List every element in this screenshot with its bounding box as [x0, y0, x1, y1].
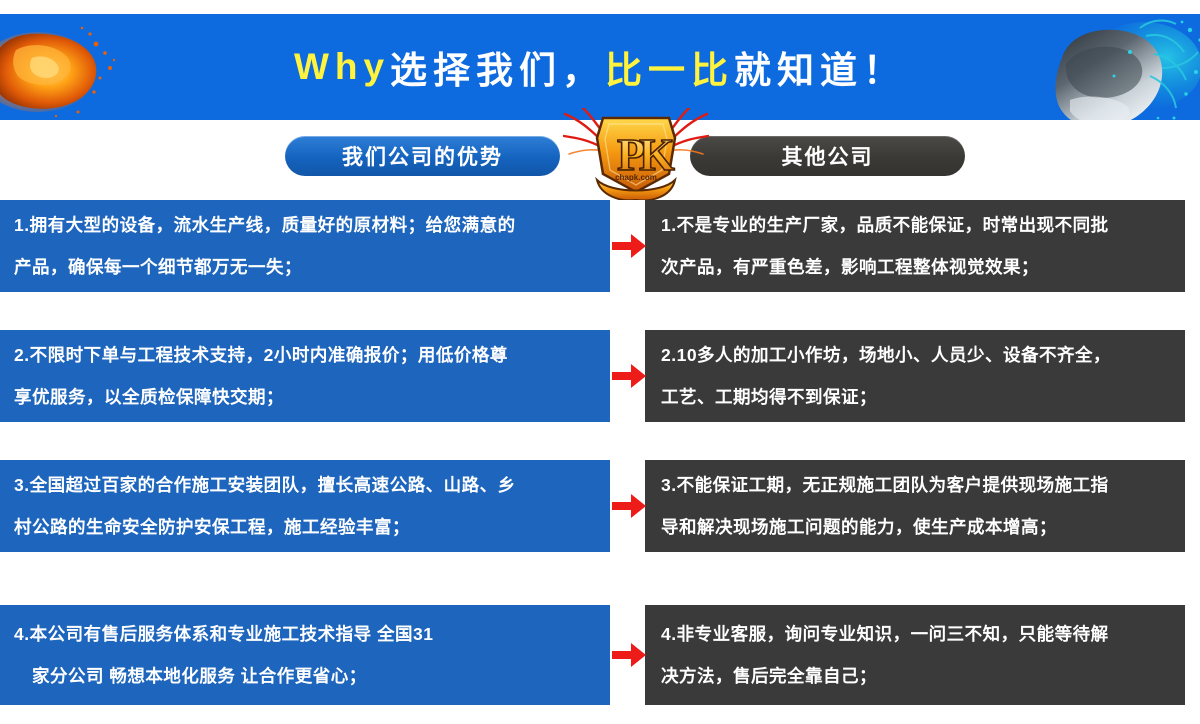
other-company-line-2: 工艺、工期均得不到保证； — [661, 376, 1171, 418]
pk-badge-icon: P K chapk.com — [563, 108, 709, 200]
comparison-row: 3.全国超过百家的合作施工安装团队，擅长高速公路、山路、乡 村公路的生命安全防护… — [0, 460, 1200, 552]
right-arrow-icon — [612, 363, 646, 389]
our-advantage-line-2: 村公路的生命安全防护安保工程，施工经验丰富； — [14, 506, 596, 548]
other-company-panel: 1.不是专业的生产厂家，品质不能保证，时常出现不同批 次产品，有严重色差，影响工… — [645, 200, 1185, 292]
our-advantage-panel: 2.不限时下单与工程技术支持，2小时内准确报价；用低价格尊 享优服务，以全质检保… — [0, 330, 610, 422]
header-banner: Why选择我们，比一比就知道！ — [0, 14, 1200, 120]
right-arrow-icon — [612, 233, 646, 259]
other-company-line-1: 1.不是专业的生产厂家，品质不能保证，时常出现不同批 — [661, 204, 1171, 246]
svg-text:chapk.com: chapk.com — [615, 173, 657, 182]
our-advantage-line-2: 产品，确保每一个细节都万无一失； — [14, 246, 596, 288]
comparison-row: 2.不限时下单与工程技术支持，2小时内准确报价；用低价格尊 享优服务，以全质检保… — [0, 330, 1200, 422]
our-advantage-line-1: 3.全国超过百家的合作施工安装团队，擅长高速公路、山路、乡 — [14, 464, 596, 506]
our-advantage-line-1: 1.拥有大型的设备，流水生产线，质量好的原材料；给您满意的 — [14, 204, 596, 246]
banner-title-know: 就知道！ — [734, 40, 906, 94]
our-advantage-line-1: 4.本公司有售后服务体系和专业施工技术指导 全国31 — [14, 613, 596, 655]
other-company-panel: 4.非专业客服，询问专业知识，一问三不知，只能等待解 决方法，售后完全靠自己； — [645, 605, 1185, 705]
tab-other-companies[interactable]: 其他公司 — [690, 136, 965, 176]
right-arrow-icon — [612, 642, 646, 668]
banner-title: Why选择我们，比一比就知道！ — [0, 14, 1200, 120]
our-advantage-panel: 4.本公司有售后服务体系和专业施工技术指导 全国31 家分公司 畅想本地化服务 … — [0, 605, 610, 705]
comparison-rows: 1.拥有大型的设备，流水生产线，质量好的原材料；给您满意的 产品，确保每一个细节… — [0, 198, 1200, 718]
other-company-line-2: 决方法，售后完全靠自己； — [661, 655, 1171, 697]
column-header-row: 我们公司的优势 — [0, 126, 1200, 198]
other-company-line-1: 2.10多人的加工小作坊，场地小、人员少、设备不齐全， — [661, 334, 1171, 376]
other-company-line-1: 4.非专业客服，询问专业知识，一问三不知，只能等待解 — [661, 613, 1171, 655]
banner-title-why: Why — [294, 46, 390, 88]
comparison-row: 4.本公司有售后服务体系和专业施工技术指导 全国31 家分公司 畅想本地化服务 … — [0, 605, 1200, 705]
other-company-line-2: 导和解决现场施工问题的能力，使生产成本增高； — [661, 506, 1171, 548]
our-advantage-line-2: 享优服务，以全质检保障快交期； — [14, 376, 596, 418]
other-company-line-1: 3.不能保证工期，无正规施工团队为客户提供现场施工指 — [661, 464, 1171, 506]
other-company-panel: 2.10多人的加工小作坊，场地小、人员少、设备不齐全， 工艺、工期均得不到保证； — [645, 330, 1185, 422]
tab-our-advantages-label: 我们公司的优势 — [342, 141, 503, 171]
our-advantage-line-2: 家分公司 畅想本地化服务 让合作更省心； — [14, 655, 596, 697]
tab-other-companies-label: 其他公司 — [782, 141, 874, 171]
right-arrow-icon — [612, 493, 646, 519]
banner-title-compare: 比一比 — [605, 40, 734, 94]
other-company-panel: 3.不能保证工期，无正规施工团队为客户提供现场施工指 导和解决现场施工问题的能力… — [645, 460, 1185, 552]
our-advantage-panel: 1.拥有大型的设备，流水生产线，质量好的原材料；给您满意的 产品，确保每一个细节… — [0, 200, 610, 292]
banner-title-choose-us: 选择我们， — [390, 40, 605, 94]
our-advantage-panel: 3.全国超过百家的合作施工安装团队，擅长高速公路、山路、乡 村公路的生命安全防护… — [0, 460, 610, 552]
other-company-line-2: 次产品，有严重色差，影响工程整体视觉效果； — [661, 246, 1171, 288]
tab-our-advantages[interactable]: 我们公司的优势 — [285, 136, 560, 176]
our-advantage-line-1: 2.不限时下单与工程技术支持，2小时内准确报价；用低价格尊 — [14, 334, 596, 376]
comparison-row: 1.拥有大型的设备，流水生产线，质量好的原材料；给您满意的 产品，确保每一个细节… — [0, 200, 1200, 292]
